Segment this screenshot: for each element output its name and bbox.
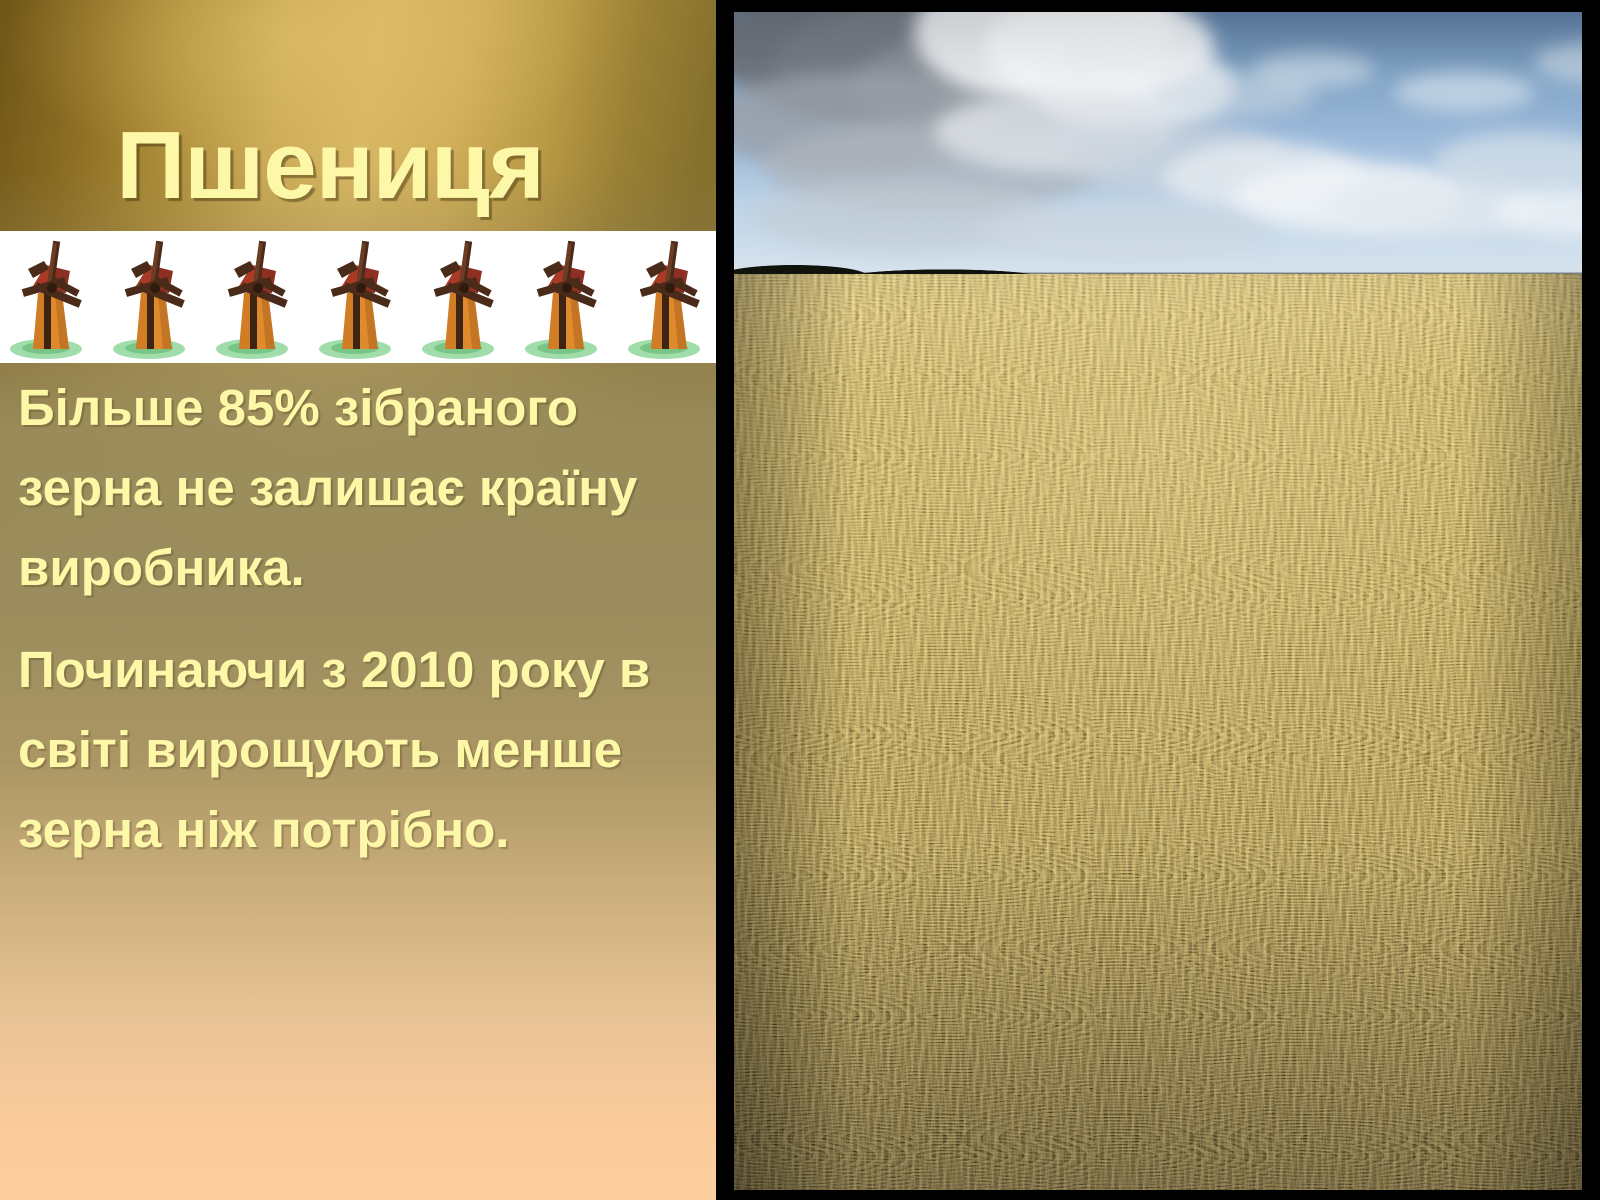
body-paragraph-1: Більше 85% зібраного зерна не залишає кр… [18, 368, 698, 608]
windmill-icon [103, 231, 206, 363]
cloud [1254, 52, 1374, 87]
wheat-texture-layer-3 [734, 274, 1582, 1190]
presentation-slide: Пшениця [0, 0, 1600, 1200]
windmill-icon [412, 231, 515, 363]
photo-frame [716, 0, 1600, 1200]
cloud [984, 202, 1264, 262]
windmill-icon [309, 231, 412, 363]
wheat-ears-layer [734, 274, 1582, 1190]
windmill-icon [515, 231, 618, 363]
body-paragraph-2: Починаючи з 2010 року в світі вирощують … [18, 630, 698, 870]
wheat-field-photo [734, 12, 1582, 1190]
windmill-icon [618, 231, 718, 363]
wheat-field-region [734, 274, 1582, 1190]
sky-region [734, 12, 1582, 277]
field-vignette [734, 274, 1582, 1190]
windmill-decoration-strip [0, 231, 718, 363]
wheat-texture-layer-2 [734, 274, 1582, 1190]
slide-title: Пшениця [0, 118, 660, 214]
windmill-icon [206, 231, 309, 363]
cloud [1394, 72, 1534, 112]
wheat-texture-layer-1 [734, 274, 1582, 1190]
cloud [1534, 42, 1582, 82]
windmill-icon [0, 231, 103, 363]
slide-body-text: Більше 85% зібраного зерна не залишає кр… [18, 368, 698, 878]
